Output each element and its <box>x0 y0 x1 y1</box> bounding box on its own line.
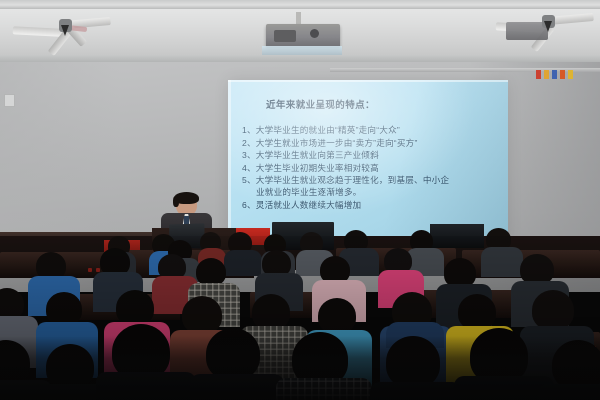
slide-bullet: 4、大学生毕业初期失业率相对较高 <box>242 162 492 175</box>
flag-swatch <box>568 70 573 79</box>
person-head <box>458 294 496 330</box>
bench-marker <box>88 268 92 272</box>
slide-bullet-list: 1、大学毕业生的就业由“精英”走向“大众” 2、大学生就业市场进一步由“卖方”走… <box>242 124 492 211</box>
flag-swatch <box>560 70 565 79</box>
audience-person <box>386 336 456 400</box>
flag-swatch <box>544 70 549 79</box>
person-head <box>318 298 356 334</box>
ceiling-fan-left-icon <box>10 8 120 42</box>
slide-title: 近年来就业呈现的特点： <box>266 97 492 111</box>
projector-light-plate <box>262 46 342 55</box>
person-head <box>552 340 600 390</box>
audience-person <box>112 324 186 400</box>
audience-person <box>0 288 34 348</box>
audience-person <box>486 228 520 268</box>
person-head <box>116 290 154 326</box>
screen-edge <box>228 80 508 82</box>
flag-swatch <box>552 70 557 79</box>
audience-person <box>292 332 364 400</box>
audience-area <box>0 236 600 400</box>
audience-person <box>206 328 276 400</box>
audience-person <box>100 248 138 296</box>
person-head <box>386 336 440 388</box>
slide-bullet: 1、大学毕业生的就业由“精英”走向“大众” <box>242 124 492 137</box>
person-head <box>532 290 574 330</box>
projection-screen: 近年来就业呈现的特点： 1、大学毕业生的就业由“精英”走向“大众” 2、大学生就… <box>228 80 508 240</box>
audience-person <box>470 328 546 400</box>
audience-person <box>552 340 600 400</box>
person-head <box>46 292 82 326</box>
audience-person <box>262 250 300 296</box>
speaker-hair-side <box>173 196 179 207</box>
wall-decoration-flags <box>536 70 573 79</box>
person-head <box>196 258 226 286</box>
person-torso <box>481 247 523 277</box>
ceiling-beam-rear <box>0 55 600 62</box>
person-torso <box>190 374 284 400</box>
slide-bullet: 6、灵活就业人数继续大幅增加 <box>242 199 492 212</box>
person-head <box>206 328 260 380</box>
person-torso <box>538 384 600 400</box>
slide-bullet: 3、大学毕业生就业向第三产业倾斜 <box>242 149 492 162</box>
audience-person <box>384 248 420 294</box>
person-head <box>252 294 290 330</box>
person-torso <box>370 382 462 400</box>
person-torso <box>276 378 372 400</box>
fan-blade <box>13 26 65 37</box>
person-torso <box>96 372 196 400</box>
flag-swatch <box>536 70 541 79</box>
slide-bullet: 2、大学生就业市场进一步由“卖方”走向“买方” <box>242 137 492 150</box>
slide-bullet-continuation: 业就业的毕业生逐渐增多。 <box>256 186 492 199</box>
screen-edge <box>228 80 231 240</box>
projector-icon <box>266 24 340 48</box>
lecture-hall-photo: 近年来就业呈现的特点： 1、大学毕业生的就业由“精英”走向“大众” 2、大学生就… <box>0 0 600 400</box>
light-switch[interactable] <box>4 94 15 107</box>
presentation-slide: 近年来就业呈现的特点： 1、大学毕业生的就业由“精英”走向“大众” 2、大学生就… <box>228 80 508 240</box>
